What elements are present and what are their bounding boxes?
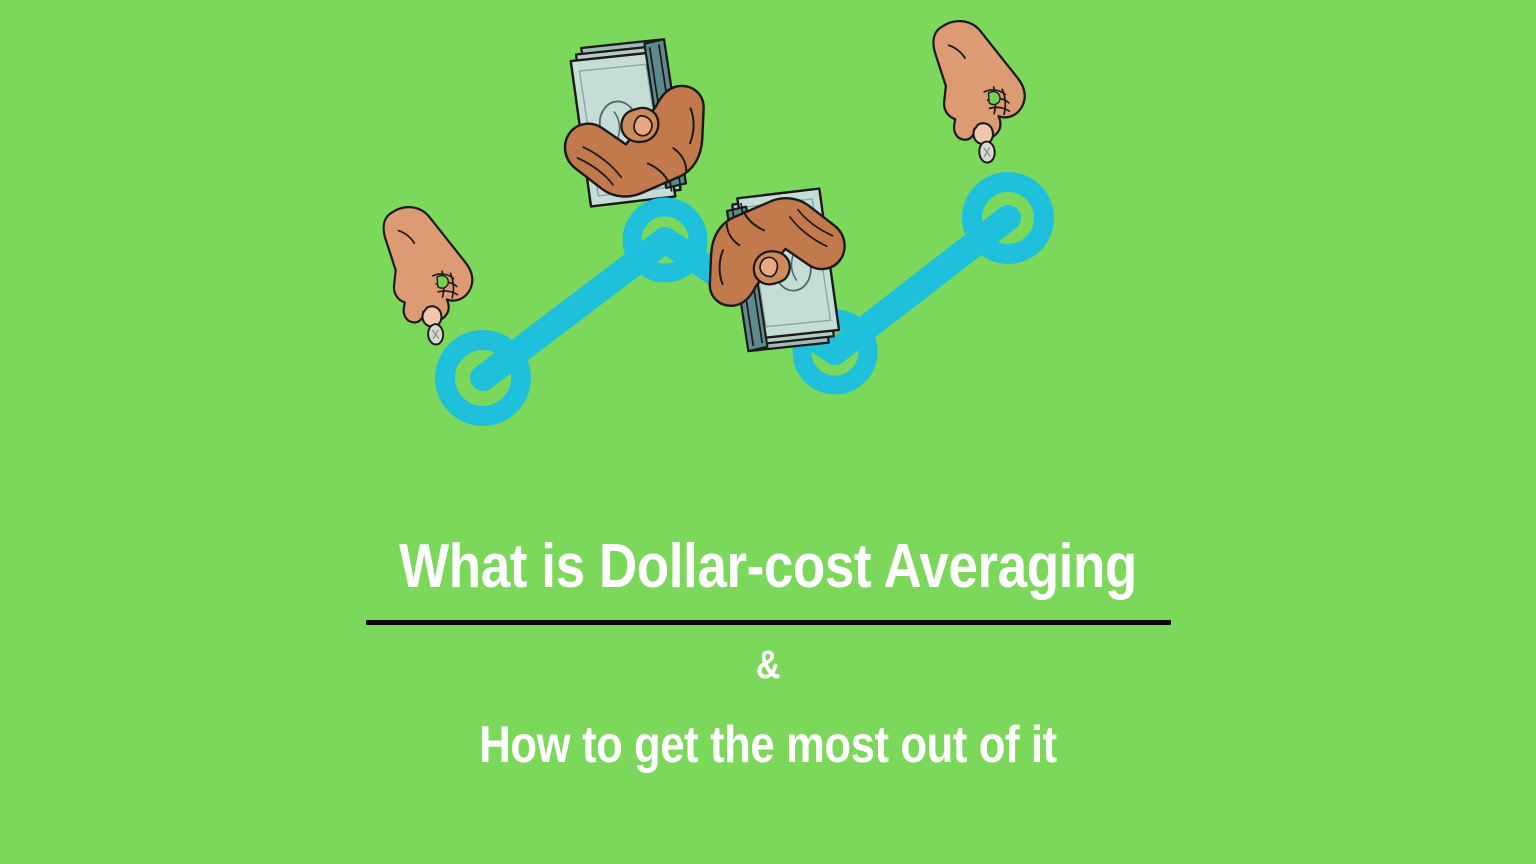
page-title: What is Dollar-cost Averaging (111, 520, 1424, 598)
page-subtitle: How to get the most out of it (123, 719, 1413, 771)
headline-conjunction: & (115, 645, 1421, 685)
hand-dropping-coin-left (382, 203, 476, 348)
hand-dropping-coin-right (932, 17, 1029, 166)
title-divider (366, 620, 1171, 625)
hand-holding-cash-top (551, 27, 715, 221)
headline-block: What is Dollar-cost Averaging & How to g… (0, 520, 1536, 771)
poster-canvas: What is Dollar-cost Averaging & How to g… (0, 0, 1536, 864)
hand-holding-cash-bottom (698, 175, 858, 363)
